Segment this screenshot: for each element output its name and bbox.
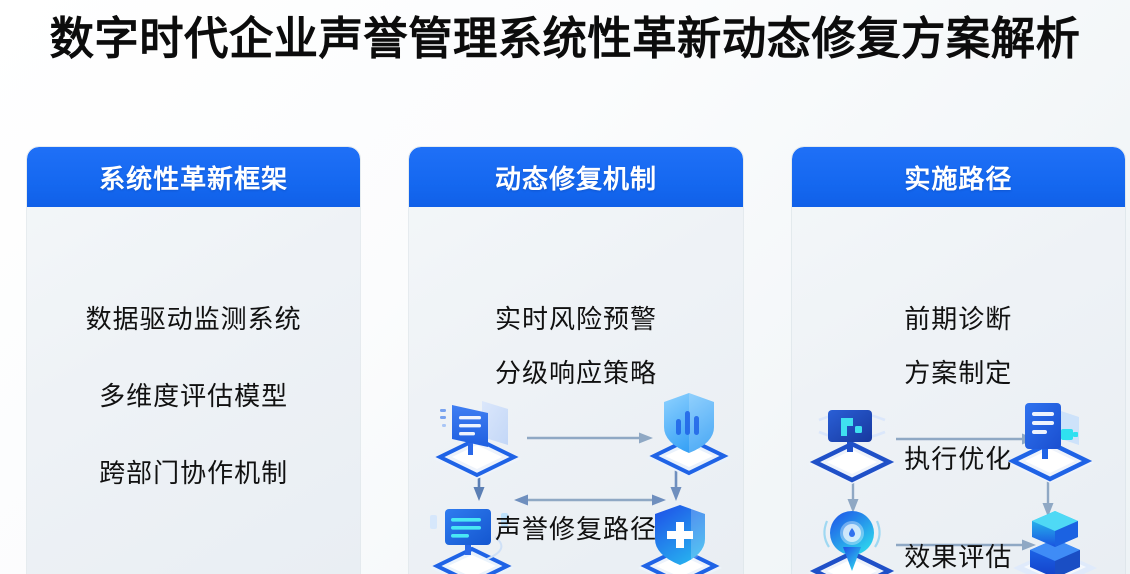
list-item: 跨部门协作机制: [99, 453, 288, 490]
card-systemic-framework[interactable]: 系统性革新框架 数据驱动监测系统 多维度评估模型 跨部门协作机制: [27, 147, 360, 574]
diagram-label-bottom: 声誉修复路径: [495, 509, 657, 546]
card-body: 数据驱动监测系统 多维度评估模型 跨部门协作机制: [27, 207, 360, 574]
diagram-label-top: 实时风险预警: [495, 299, 657, 336]
card-implementation-path[interactable]: 实施路径 前期诊断 方案制定 执行优化 效果评估: [792, 147, 1125, 574]
card-dynamic-repair[interactable]: 动态修复机制 实时风险预警 分级响应策略 声誉修复路径: [409, 147, 742, 574]
diagram-label-diagnosis: 前期诊断: [904, 299, 1012, 336]
monitor-cyan-icon: [797, 390, 907, 500]
feature-list: 数据驱动监测系统 多维度评估模型 跨部门协作机制: [27, 299, 360, 490]
page-title: 数字时代企业声誉管理系统性革新动态修复方案解析: [8, 8, 1121, 70]
shield-bars-icon: [634, 377, 742, 487]
diagram-label-execution: 执行优化: [904, 439, 1012, 476]
diagram-label-evaluation: 效果评估: [904, 537, 1012, 574]
location-pin-icon: [797, 497, 907, 574]
diagram-label-middle: 分级响应策略: [495, 353, 657, 390]
card-header: 系统性革新框架: [27, 147, 360, 207]
list-item: 数据驱动监测系统: [86, 299, 302, 336]
list-item: 多维度评估模型: [99, 376, 288, 413]
diagram-label-planning: 方案制定: [904, 353, 1012, 390]
card-body: 前期诊断 方案制定 执行优化 效果评估: [792, 207, 1125, 574]
card-header: 动态修复机制: [409, 147, 742, 207]
card-title: 实施路径: [904, 159, 1012, 196]
card-title: 系统性革新框架: [99, 159, 288, 196]
card-title: 动态修复机制: [495, 159, 657, 196]
card-deck: 系统性革新框架 数据驱动监测系统 多维度评估模型 跨部门协作机制 动态修复机制 …: [27, 147, 1125, 574]
monitor-document-icon: [422, 383, 532, 493]
cube-stack-icon: [1000, 495, 1110, 574]
card-body: 实时风险预警 分级响应策略 声誉修复路径: [409, 207, 742, 574]
card-header: 实施路径: [792, 147, 1125, 207]
